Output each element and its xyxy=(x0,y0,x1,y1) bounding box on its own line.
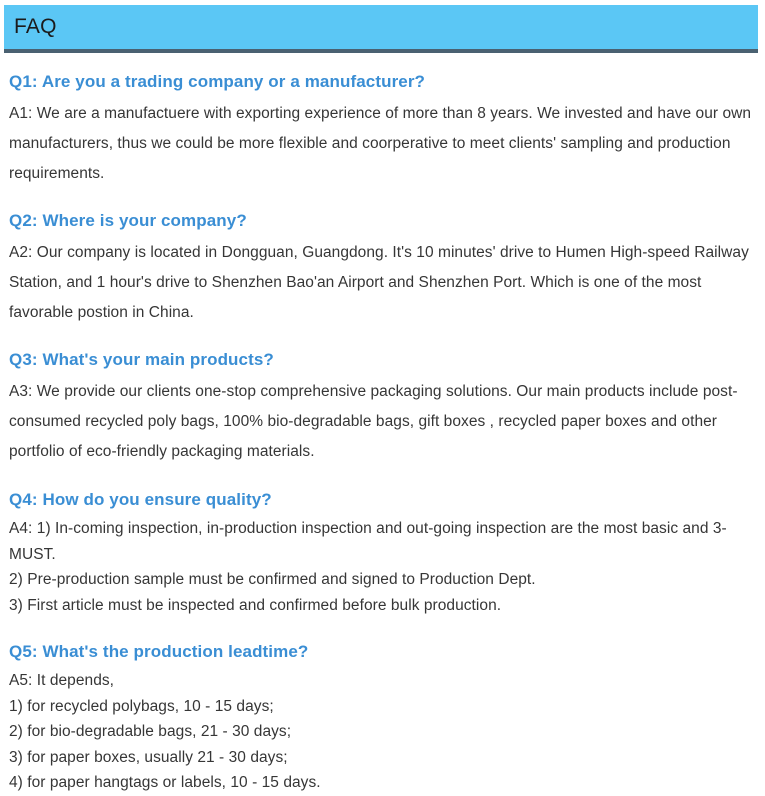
faq-page: FAQ Q1: Are you a trading company or a m… xyxy=(0,0,765,748)
faq-item-q2: Q2: Where is your company? A2: Our compa… xyxy=(9,209,754,328)
faq-question-q3: Q3: What's your main products? xyxy=(9,348,754,372)
faq-question-q5: Q5: What's the production leadtime? xyxy=(9,640,754,664)
faq-item-q5: Q5: What's the production leadtime? A5: … xyxy=(9,640,754,796)
faq-answer-line: 3) for paper boxes, usually 21 - 30 days… xyxy=(9,745,754,771)
faq-answer-q5: A5: It depends, 1) for recycled polybags… xyxy=(9,668,754,796)
faq-answer-q2: A2: Our company is located in Dongguan, … xyxy=(9,238,754,328)
faq-answer-line: A5: It depends, xyxy=(9,668,754,694)
faq-content: Q1: Are you a trading company or a manuf… xyxy=(9,70,754,796)
faq-answer-line: 2) Pre-production sample must be confirm… xyxy=(9,567,754,593)
faq-question-q4: Q4: How do you ensure quality? xyxy=(9,488,754,512)
faq-item-q3: Q3: What's your main products? A3: We pr… xyxy=(9,348,754,467)
faq-question-q1: Q1: Are you a trading company or a manuf… xyxy=(9,70,754,94)
faq-answer-line: 4) for paper hangtags or labels, 10 - 15… xyxy=(9,770,754,796)
faq-answer-line: A4: 1) In-coming inspection, in-producti… xyxy=(9,516,754,567)
faq-answer-q3: A3: We provide our clients one-stop comp… xyxy=(9,377,754,467)
faq-answer-line: 3) First article must be inspected and c… xyxy=(9,593,754,619)
faq-item-q4: Q4: How do you ensure quality? A4: 1) In… xyxy=(9,488,754,618)
faq-question-q2: Q2: Where is your company? xyxy=(9,209,754,233)
faq-answer-line: 1) for recycled polybags, 10 - 15 days; xyxy=(9,694,754,720)
faq-answer-q1: A1: We are a manufactuere with exporting… xyxy=(9,99,754,189)
faq-answer-q4: A4: 1) In-coming inspection, in-producti… xyxy=(9,516,754,618)
faq-banner-title: FAQ xyxy=(14,13,57,41)
faq-item-q1: Q1: Are you a trading company or a manuf… xyxy=(9,70,754,189)
faq-answer-line: 2) for bio-degradable bags, 21 - 30 days… xyxy=(9,719,754,745)
faq-header-banner: FAQ xyxy=(4,5,758,53)
